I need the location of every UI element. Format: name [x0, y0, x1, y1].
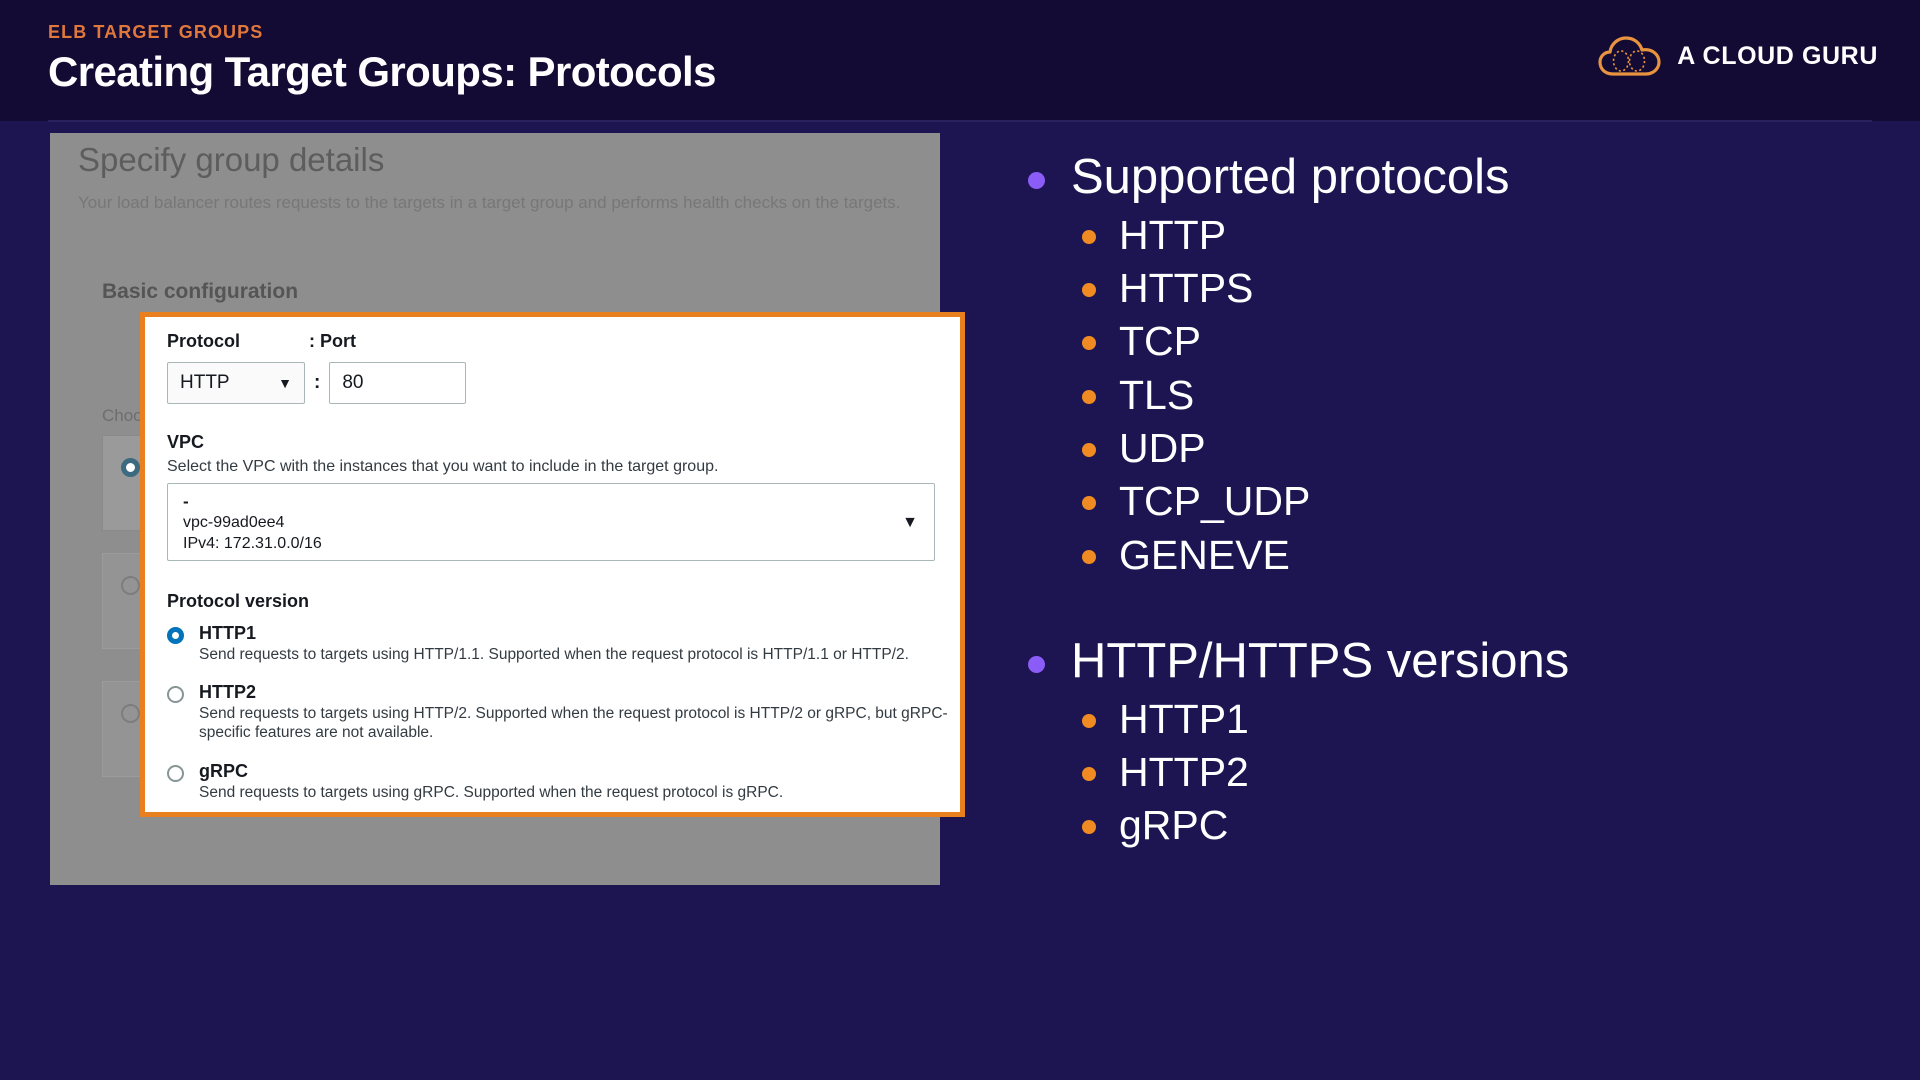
- radio-icon: [167, 686, 184, 703]
- bullet-dot-icon: [1082, 230, 1096, 244]
- radio-icon: [121, 704, 140, 723]
- header-divider: [48, 120, 1872, 122]
- option-description: Send requests to targets using HTTP/1.1.…: [199, 646, 955, 665]
- list-item: TLS: [1082, 369, 1888, 422]
- radio-icon: [121, 458, 140, 477]
- list-item: TCP_UDP: [1082, 475, 1888, 528]
- list-item-label: gRPC: [1119, 799, 1228, 852]
- brand-logo: A CLOUD GURU: [1597, 34, 1878, 78]
- bullet-group-http-versions: HTTP/HTTPS versions HTTP1 HTTP2 gRPC: [1028, 634, 1888, 853]
- protocol-select-value: HTTP: [180, 372, 230, 394]
- bullet-dot-icon: [1082, 820, 1096, 834]
- console-heading: Specify group details: [78, 141, 384, 179]
- bullet-heading-label: Supported protocols: [1071, 150, 1510, 205]
- console-section-heading: Basic configuration: [102, 280, 298, 304]
- logo-wordmark: A CLOUD GURU: [1677, 42, 1878, 71]
- list-item: HTTP2: [1082, 746, 1888, 799]
- bullet-dot-icon: [1082, 283, 1096, 297]
- bullet-dot-icon: [1082, 550, 1096, 564]
- protocol-label: Protocol: [167, 331, 309, 352]
- bullet-heading-label: HTTP/HTTPS versions: [1071, 634, 1569, 689]
- vpc-id: vpc-99ad0ee4: [183, 514, 284, 532]
- option-description: Send requests to targets using HTTP/2. S…: [199, 705, 955, 743]
- vpc-selected-name: -: [183, 492, 189, 512]
- bullet-dot-icon: [1028, 656, 1045, 673]
- vpc-cidr: IPv4: 172.31.0.0/16: [183, 535, 322, 553]
- vpc-label: VPC: [167, 432, 204, 453]
- protocol-version-label: Protocol version: [167, 591, 309, 612]
- radio-selected-icon: [167, 627, 184, 644]
- bullet-dot-icon: [1082, 390, 1096, 404]
- list-item: HTTP1: [1082, 693, 1888, 746]
- list-item-label: HTTP1: [1119, 693, 1249, 746]
- bullet-dot-icon: [1082, 443, 1096, 457]
- protocol-select[interactable]: HTTP ▼: [167, 362, 305, 404]
- list-item-label: TCP: [1119, 315, 1201, 368]
- radio-icon: [121, 576, 140, 595]
- list-item-label: HTTP: [1119, 209, 1226, 262]
- bullet-heading: Supported protocols: [1028, 150, 1888, 205]
- cloud-icon: [1597, 34, 1663, 78]
- port-separator: :: [314, 372, 320, 394]
- list-item-label: TCP_UDP: [1119, 475, 1310, 528]
- vpc-description: Select the VPC with the instances that y…: [167, 458, 718, 476]
- port-input-value: 80: [342, 372, 363, 394]
- list-item: GENEVE: [1082, 529, 1888, 582]
- bullet-group-spacer: [1028, 582, 1888, 634]
- bullet-dot-icon: [1082, 496, 1096, 510]
- list-item-label: GENEVE: [1119, 529, 1290, 582]
- slide-header: ELB TARGET GROUPS Creating Target Groups…: [0, 0, 1920, 121]
- protocol-port-fields: HTTP ▼ : 80: [167, 362, 466, 404]
- list-item: HTTPS: [1082, 262, 1888, 315]
- bullet-content: Supported protocols HTTP HTTPS TCP TLS U…: [1028, 150, 1888, 853]
- console-subtitle: Your load balancer routes requests to th…: [78, 193, 900, 213]
- list-item: HTTP: [1082, 209, 1888, 262]
- bullet-dot-icon: [1082, 336, 1096, 350]
- port-input[interactable]: 80: [329, 362, 466, 404]
- list-item-label: HTTP2: [1119, 746, 1249, 799]
- page-title: Creating Target Groups: Protocols: [48, 48, 716, 96]
- chevron-down-icon: ▼: [902, 514, 918, 532]
- option-title: HTTP2: [199, 682, 256, 703]
- bullet-dot-icon: [1028, 172, 1045, 189]
- option-title: gRPC: [199, 761, 248, 782]
- list-item-label: UDP: [1119, 422, 1206, 475]
- slide-canvas: ELB TARGET GROUPS Creating Target Groups…: [0, 0, 1920, 1080]
- bullet-dot-icon: [1082, 767, 1096, 781]
- list-item: TCP: [1082, 315, 1888, 368]
- callout-popup: Protocol : Port HTTP ▼ : 80 VPC Select t…: [140, 312, 965, 817]
- chevron-down-icon: ▼: [278, 375, 292, 391]
- protocol-port-labels: Protocol : Port: [167, 331, 356, 352]
- bullet-heading: HTTP/HTTPS versions: [1028, 634, 1888, 689]
- option-title: HTTP1: [199, 623, 256, 644]
- list-item-label: TLS: [1119, 369, 1194, 422]
- bullet-dot-icon: [1082, 714, 1096, 728]
- bullet-group-supported-protocols: Supported protocols HTTP HTTPS TCP TLS U…: [1028, 150, 1888, 582]
- port-label: : Port: [309, 331, 356, 352]
- radio-icon: [167, 765, 184, 782]
- list-item-label: HTTPS: [1119, 262, 1253, 315]
- list-item: gRPC: [1082, 799, 1888, 852]
- header-eyebrow: ELB TARGET GROUPS: [48, 22, 263, 43]
- list-item: UDP: [1082, 422, 1888, 475]
- vpc-select[interactable]: - vpc-99ad0ee4 IPv4: 172.31.0.0/16 ▼: [167, 483, 935, 561]
- option-description: Send requests to targets using gRPC. Sup…: [199, 784, 955, 803]
